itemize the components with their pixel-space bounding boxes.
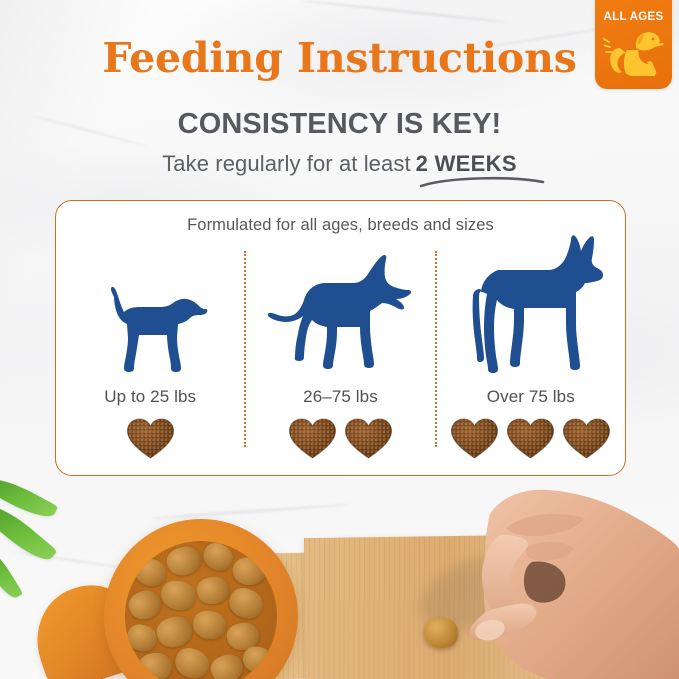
- sitting-dog-icon: [603, 28, 665, 80]
- product-photo-band: [0, 478, 679, 679]
- bowl-interior: [125, 541, 277, 679]
- kibble-piece: [241, 645, 275, 676]
- dog-illustration-slot: [437, 232, 625, 378]
- underline-swoosh-icon: [419, 174, 545, 188]
- held-kibble: [424, 618, 458, 648]
- treat-count-group: [287, 415, 394, 461]
- heart-treat-icon: [287, 415, 338, 461]
- heart-treat-icon: [343, 415, 394, 461]
- kibble-piece: [231, 555, 268, 588]
- kibble-piece: [153, 612, 196, 652]
- subtitle: CONSISTENCY IS KEY!: [0, 110, 679, 139]
- kibble-piece: [194, 574, 232, 608]
- dog-illustration-slot: [246, 245, 434, 378]
- infographic-root: Feeding Instructions CONSISTENCY IS KEY!…: [0, 0, 679, 679]
- small-dog-icon: [91, 282, 209, 378]
- size-columns: Up to 25 lbs: [56, 245, 625, 465]
- heart-treat-icon: [449, 415, 500, 461]
- kibble-piece: [133, 556, 169, 589]
- kibble-piece: [137, 651, 174, 679]
- kibble-piece: [125, 585, 166, 624]
- large-dog-icon: [452, 232, 610, 378]
- tagline-emphasis: 2 WEEKS: [416, 151, 517, 176]
- size-column-small: Up to 25 lbs: [56, 245, 244, 465]
- size-column-large: Over 75 lbs: [437, 245, 625, 465]
- kibble-piece: [192, 609, 228, 640]
- heart-treat-icon: [561, 415, 612, 461]
- badge-label: ALL AGES: [595, 11, 672, 23]
- weight-label: 26–75 lbs: [303, 387, 378, 407]
- heart-treat-icon: [505, 415, 556, 461]
- treat-count-group: [125, 415, 176, 461]
- medium-dog-icon: [265, 254, 415, 378]
- kibble-piece: [225, 584, 267, 623]
- page-title: Feeding Instructions: [0, 38, 679, 79]
- dog-food-bowl: [104, 519, 298, 679]
- weight-label: Up to 25 lbs: [104, 387, 196, 407]
- kibble-piece: [199, 541, 237, 575]
- size-column-medium: 26–75 lbs: [246, 245, 434, 465]
- kibble-piece: [159, 579, 198, 613]
- kibble-piece: [164, 542, 205, 579]
- kibble-piece: [125, 622, 160, 655]
- tagline-prefix: Take regularly for at least: [162, 151, 410, 176]
- feeding-chart-card: Formulated for all ages, breeds and size…: [55, 200, 626, 476]
- heart-treat-icon: [125, 415, 176, 461]
- dog-illustration-slot: [56, 245, 244, 378]
- treat-count-group: [449, 415, 612, 461]
- plant-leaf-icon: [0, 543, 23, 603]
- hand-holding-treat: [428, 484, 679, 679]
- tagline: Take regularly for at least2 WEEKS: [0, 153, 679, 175]
- kibble-piece: [171, 644, 212, 679]
- weight-label: Over 75 lbs: [487, 387, 575, 407]
- kibble-piece: [207, 650, 247, 679]
- all-ages-badge: ALL AGES: [595, 0, 672, 89]
